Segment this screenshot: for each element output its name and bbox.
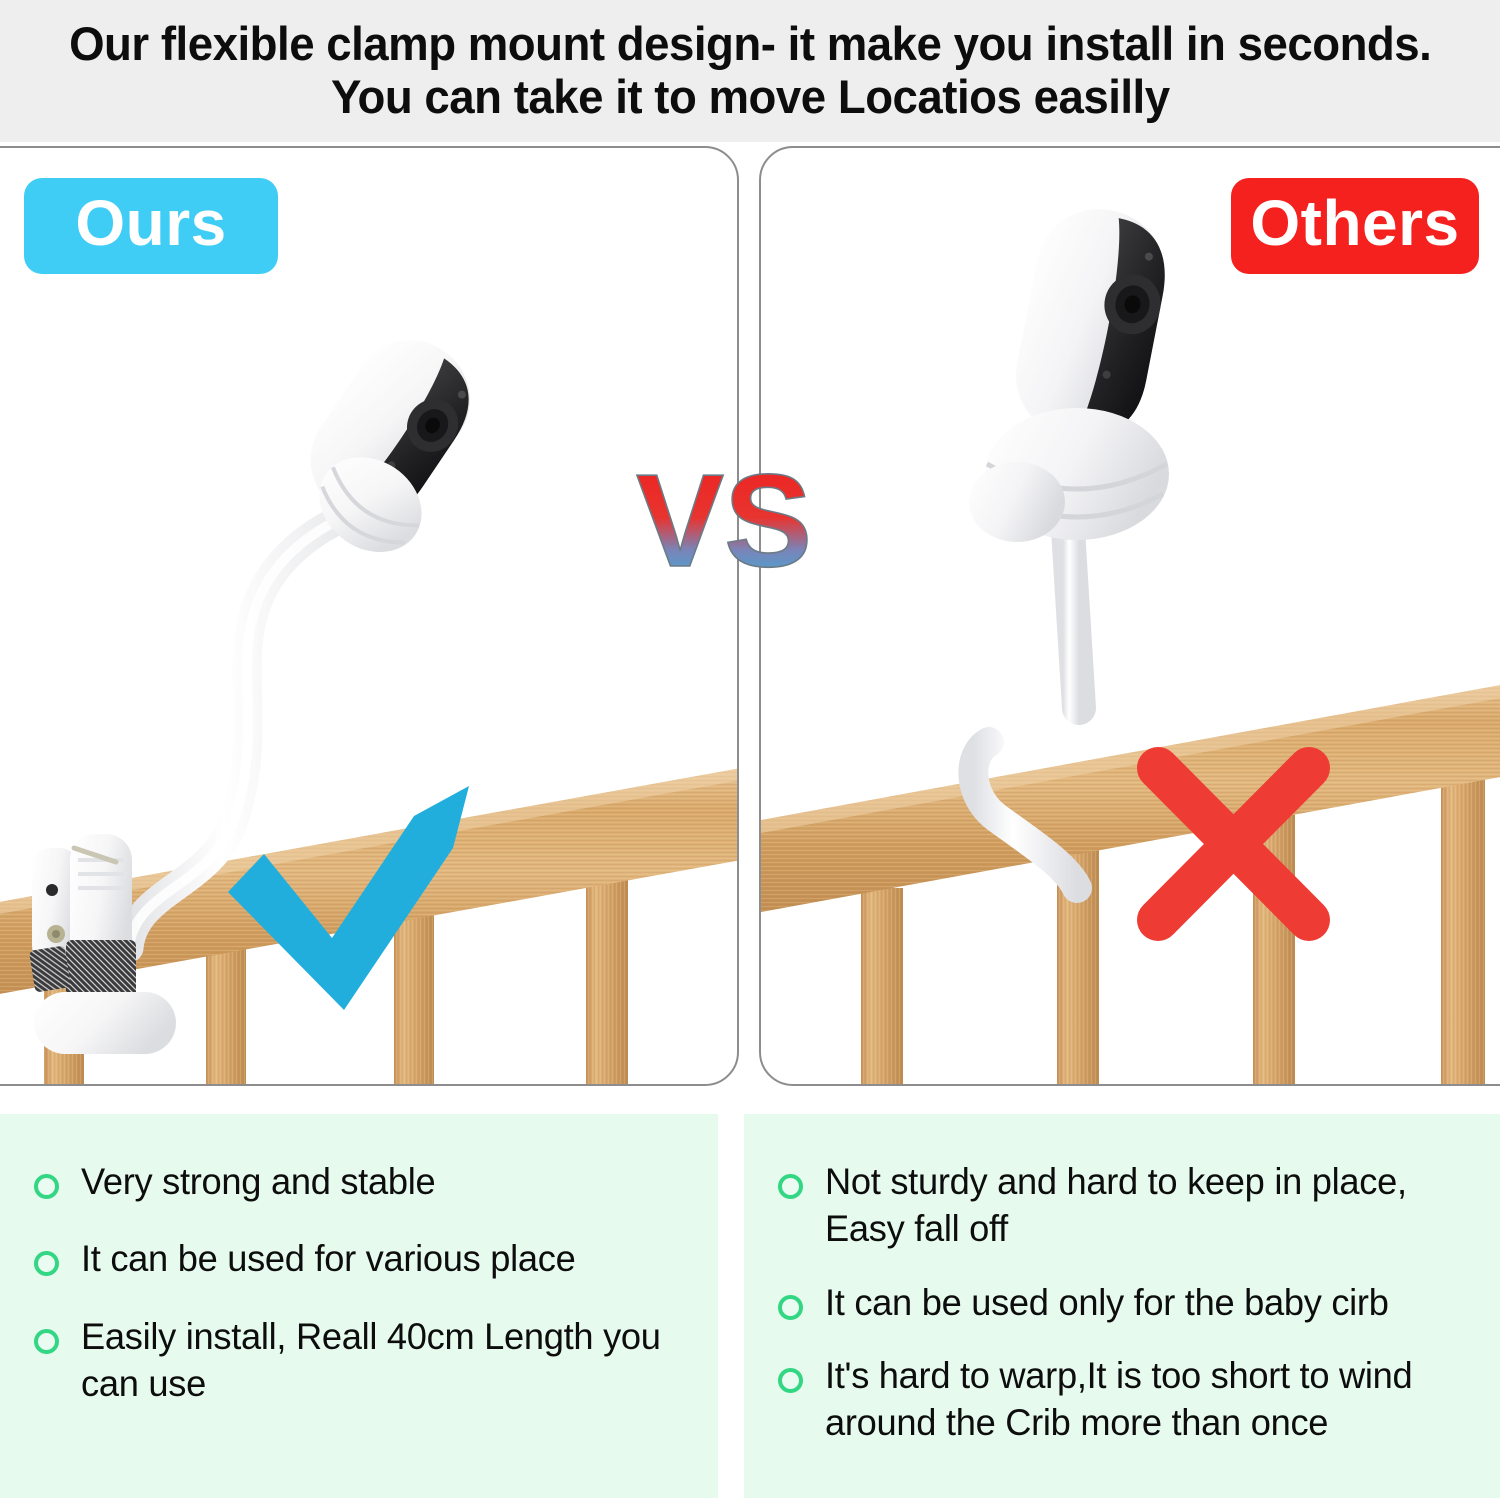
list-item-label: It's hard to warp,It is too short to win… xyxy=(825,1352,1461,1447)
bullet-dot-icon xyxy=(34,1329,59,1354)
bullet-dot-icon xyxy=(778,1295,803,1320)
list-item-label: Very strong and stable xyxy=(81,1158,435,1205)
list-item-label: Easily install, Reall 40cm Length you ca… xyxy=(81,1313,680,1408)
ours-illustration xyxy=(0,148,739,1086)
others-illustration xyxy=(761,148,1500,1086)
bullet-dot-icon xyxy=(778,1368,803,1393)
list-item: Not sturdy and hard to keep in place, Ea… xyxy=(778,1158,1474,1253)
product-comparison-infographic: Our flexible clamp mount design- it make… xyxy=(0,0,1500,1498)
bullet-dot-icon xyxy=(34,1174,59,1199)
list-item-label: It can be used only for the baby cirb xyxy=(825,1279,1389,1326)
camera-ball-joint-right xyxy=(969,408,1169,542)
crib-top-rail-right xyxy=(761,678,1500,912)
pros-list: Very strong and stable It can be used fo… xyxy=(0,1114,718,1498)
list-item-label: Not sturdy and hard to keep in place, Ea… xyxy=(825,1158,1461,1253)
list-item: Easily install, Reall 40cm Length you ca… xyxy=(34,1313,692,1408)
bullet-dot-icon xyxy=(34,1251,59,1276)
ours-image-panel xyxy=(0,146,739,1086)
list-item: It can be used for various place xyxy=(34,1235,692,1282)
header-line-1: Our flexible clamp mount design- it make… xyxy=(69,18,1431,71)
list-item: Very strong and stable xyxy=(34,1158,692,1205)
list-item: It's hard to warp,It is too short to win… xyxy=(778,1352,1474,1447)
versus-text: VS xyxy=(636,462,812,582)
others-badge: Others xyxy=(1231,178,1479,274)
others-image-panel xyxy=(759,146,1500,1086)
header-line-2: You can take it to move Locatios easilly xyxy=(331,71,1170,124)
cons-list: Not sturdy and hard to keep in place, Ea… xyxy=(744,1114,1500,1498)
list-item-label: It can be used for various place xyxy=(81,1235,576,1282)
versus-label: VS xyxy=(636,462,862,582)
ours-badge: Ours xyxy=(24,178,278,274)
header-banner: Our flexible clamp mount design- it make… xyxy=(0,0,1500,142)
list-item: It can be used only for the baby cirb xyxy=(778,1279,1474,1326)
bullet-dot-icon xyxy=(778,1174,803,1199)
